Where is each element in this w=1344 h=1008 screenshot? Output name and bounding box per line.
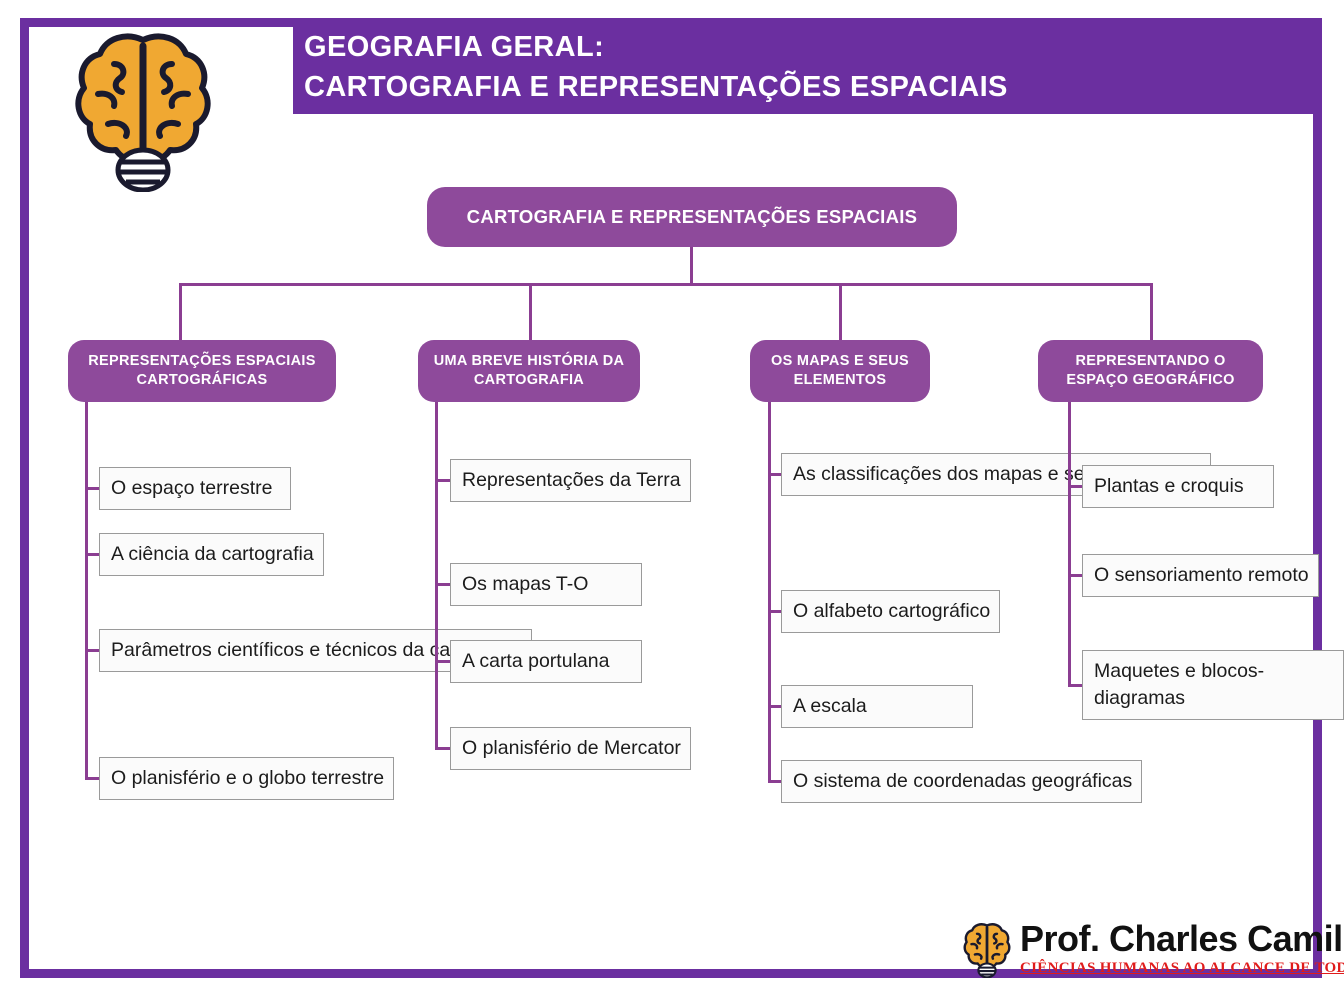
branch-connector-bus [179,283,1152,286]
brain-lightbulb-icon [68,24,218,192]
branch-spine [435,402,438,749]
branch-spine [1068,402,1071,685]
brand-name: Prof. Charles Camilo [1020,918,1344,960]
branch-node-representacoes-espaciais-cartograficas[interactable]: REPRESENTAÇÕES ESPACIAIS CARTOGRÁFICAS [68,340,336,402]
leaf-node[interactable]: O planisfério e o globo terrestre [99,757,394,800]
mindmap-page: GEOGRAFIA GERAL: CARTOGRAFIA E REPRESENT… [0,0,1344,1008]
branch-connector-drop-2 [839,283,842,341]
branch-node-uma-breve-historia-da-cartografia[interactable]: UMA BREVE HISTÓRIA DA CARTOGRAFIA [418,340,640,402]
branch-spine [768,402,771,782]
leaf-node[interactable]: A escala [781,685,973,728]
brand-tagline: CIÊNCIAS HUMANAS AO ALCANCE DE TODOS [1020,960,1344,977]
leaf-node[interactable]: A carta portulana [450,640,642,683]
brain-lightbulb-icon [958,920,1016,978]
brand-footer: Prof. Charles Camilo CIÊNCIAS HUMANAS AO… [958,918,1318,980]
branch-connector-drop-3 [1150,283,1153,341]
branch-node-representando-o-espaco-geografico[interactable]: REPRESENTANDO O ESPAÇO GEOGRÁFICO [1038,340,1263,402]
leaf-node[interactable]: O sensoriamento remoto [1082,554,1319,597]
branch-connector-drop-1 [529,283,532,341]
page-title: GEOGRAFIA GERAL: CARTOGRAFIA E REPRESENT… [304,27,1314,107]
root-node[interactable]: CARTOGRAFIA E REPRESENTAÇÕES ESPACIAIS [427,187,957,247]
leaf-node[interactable]: O alfabeto cartográfico [781,590,1000,633]
branch-spine [85,402,88,779]
leaf-node[interactable]: Os mapas T-O [450,563,642,606]
leaf-node[interactable]: Representações da Terra [450,459,691,502]
leaf-node[interactable]: O sistema de coordenadas geográficas [781,760,1142,803]
leaf-node[interactable]: Maquetes e blocos-diagramas [1082,650,1344,720]
leaf-node[interactable]: O espaço terrestre [99,467,291,510]
leaf-node[interactable]: Plantas e croquis [1082,465,1274,508]
page-title-line1: GEOGRAFIA GERAL: [304,27,1314,67]
leaf-node[interactable]: A ciência da cartografia [99,533,324,576]
branch-node-os-mapas-e-seus-elementos[interactable]: OS MAPAS E SEUS ELEMENTOS [750,340,930,402]
branch-connector-drop-0 [179,283,182,341]
page-title-line2: CARTOGRAFIA E REPRESENTAÇÕES ESPACIAIS [304,67,1314,107]
frame-border-right [1313,18,1322,978]
root-connector-stem [690,247,693,284]
frame-border-left [20,18,29,978]
leaf-node[interactable]: O planisfério de Mercator [450,727,691,770]
